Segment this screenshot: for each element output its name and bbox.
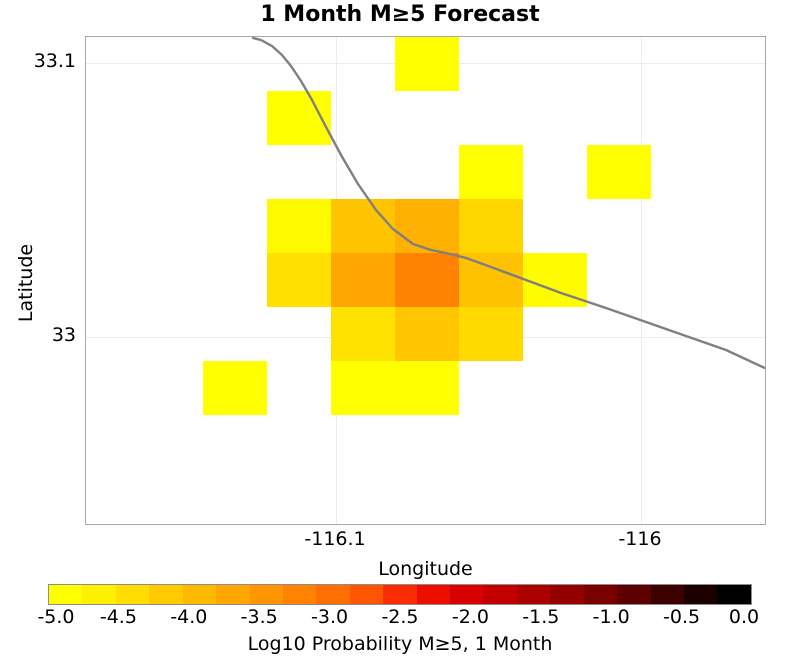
colorbar-segment (49, 585, 82, 604)
colorbar-segment (216, 585, 249, 604)
fault-trace-line (86, 37, 766, 525)
chart-canvas: 1 Month M≥5 Forecast 33.1 33 Latitude -1… (0, 0, 800, 670)
colorbar-segment (651, 585, 684, 604)
colorbar-tick-label: -2.0 (430, 606, 510, 628)
y-axis-label: Latitude (15, 213, 37, 353)
colorbar-segment (617, 585, 650, 604)
colorbar-tick-label: 0.0 (704, 606, 784, 628)
colorbar-tick-label: -3.0 (290, 606, 370, 628)
colorbar-tick-label: -4.0 (149, 606, 229, 628)
colorbar-tick-label: -1.5 (501, 606, 581, 628)
y-tick-label: 33.1 (0, 52, 76, 71)
colorbar-segment (116, 585, 149, 604)
colorbar-segment (250, 585, 283, 604)
colorbar-segment (684, 585, 717, 604)
colorbar-segment (149, 585, 182, 604)
colorbar-segment (517, 585, 550, 604)
colorbar-segment (183, 585, 216, 604)
colorbar-segment (283, 585, 316, 604)
colorbar (48, 584, 752, 605)
colorbar-segment (450, 585, 483, 604)
colorbar-segment (316, 585, 349, 604)
colorbar-segment (383, 585, 416, 604)
colorbar-label: Log10 Probability M≥5, 1 Month (0, 633, 800, 655)
colorbar-segment (717, 585, 750, 604)
colorbar-tick-label: -2.5 (360, 606, 440, 628)
colorbar-segment (350, 585, 383, 604)
colorbar-tick-label: -4.5 (78, 606, 158, 628)
colorbar-segment (584, 585, 617, 604)
plot-area (85, 36, 766, 525)
colorbar-gradient (48, 584, 752, 605)
x-axis-label: Longitude (85, 558, 766, 580)
x-tick-label: -116.1 (275, 530, 395, 549)
colorbar-segment (483, 585, 516, 604)
colorbar-tick-label: -1.0 (571, 606, 651, 628)
colorbar-segment (417, 585, 450, 604)
x-tick-label: -116 (580, 530, 700, 549)
colorbar-segment (550, 585, 583, 604)
chart-title: 1 Month M≥5 Forecast (0, 2, 800, 27)
colorbar-segment (82, 585, 115, 604)
colorbar-tick-label: -3.5 (219, 606, 299, 628)
y-tick-label: 33 (0, 326, 76, 345)
